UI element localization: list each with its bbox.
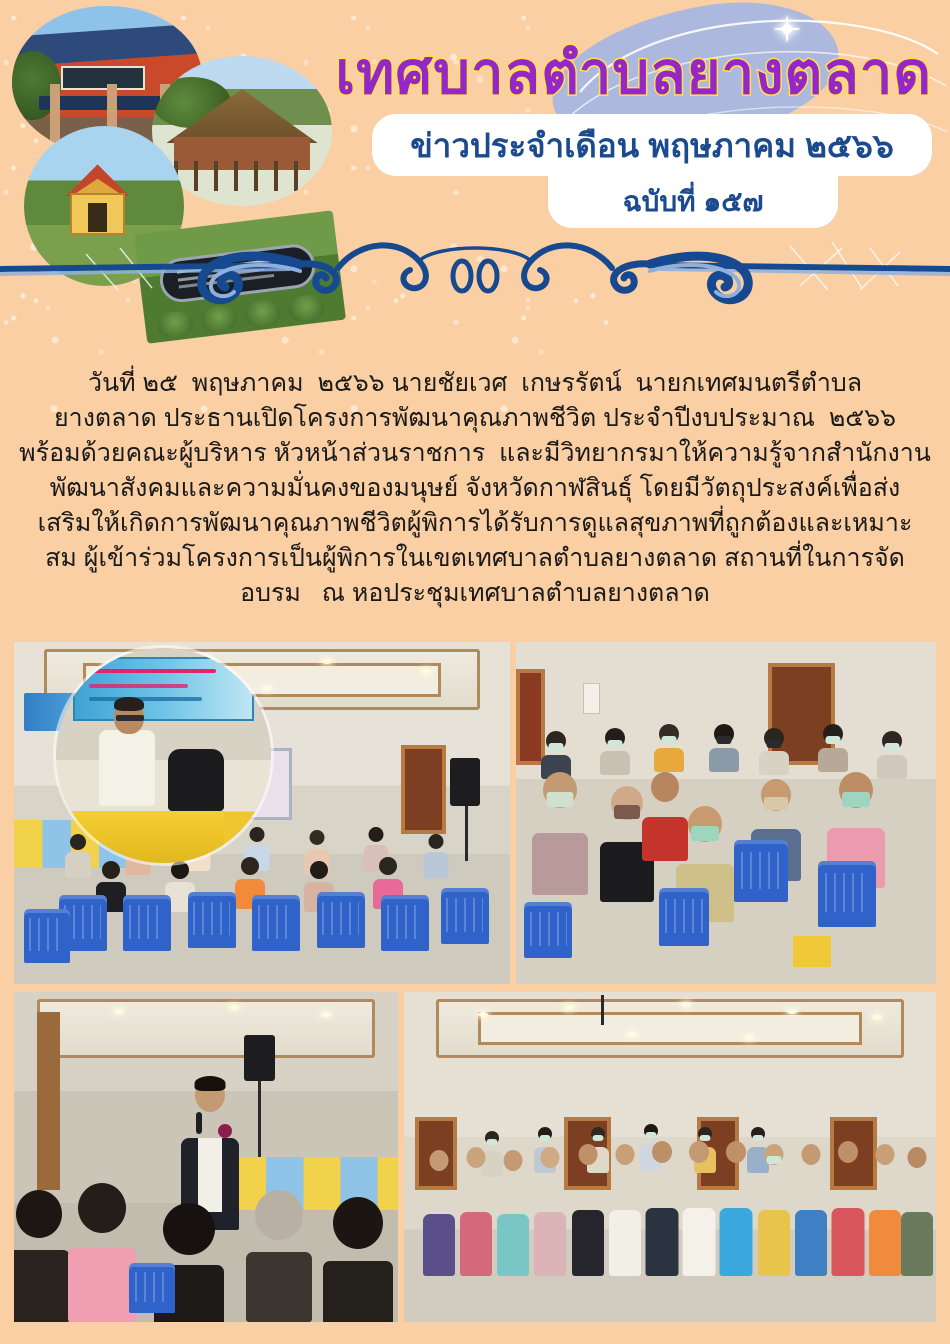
month-issue-banner: ข่าวประจำเดือน พฤษภาคม ๒๕๖๖ [372, 114, 932, 176]
article-line: เสริมให้เกิดการพัฒนาคุณภาพชีวิตผู้พิการไ… [18, 506, 932, 541]
photo-audience-seated-masks [516, 642, 936, 984]
article-line: ยางตลาด ประธานเปิดโครงการพัฒนาคุณภาพชีวิ… [18, 401, 932, 436]
article-line: สม ผู้เข้าร่วมโครงการเป็นผู้พิการในเขตเท… [18, 541, 932, 576]
article-line: อบรม ณ หอประชุมเทศบาลตำบลยางตลาด [18, 576, 932, 611]
photo-conference-hall-audience-wide [14, 642, 510, 984]
article-line: พร้อมด้วยคณะผู้บริหาร หัวหน้าส่วนราชการ … [18, 436, 932, 471]
issue-number-banner: ฉบับที่ ๑๕๗ [548, 176, 838, 228]
page-title: เทศบาลตำบลยางตลาด [0, 26, 932, 119]
article-line: วันที่ ๒๕ พฤษภาคม ๒๕๖๖ นายชัยเวศ เกษรรัต… [18, 366, 932, 401]
photo-guest-speaker-microphone [14, 992, 398, 1322]
article-body: วันที่ ๒๕ พฤษภาคม ๒๕๖๖ นายชัยเวศ เกษรรัต… [18, 366, 932, 611]
photo-group-photo-participants [404, 992, 936, 1322]
inset-mayor-opening-ceremony [56, 648, 271, 863]
flourish-divider [0, 228, 950, 308]
photo-grid [14, 642, 936, 1334]
article-line: พัฒนาสังคมและความมั่นคงของมนุษย์ จังหวัด… [18, 471, 932, 506]
